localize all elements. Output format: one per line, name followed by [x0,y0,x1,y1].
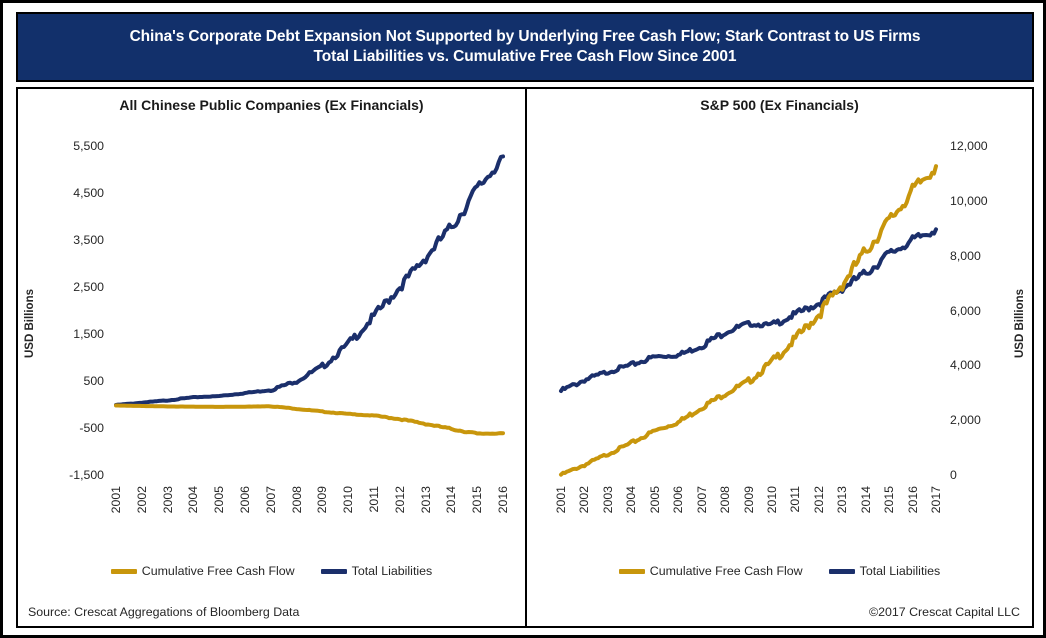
x-axis-tick: 2012 [393,486,407,513]
legend-swatch-gold [111,569,137,574]
x-axis-tick: 2012 [812,486,826,513]
legend-item-cumulative-free-cash-flow: Cumulative Free Cash Flow [111,564,295,578]
x-axis-tick: 2004 [624,486,638,513]
chart-page: China's Corporate Debt Expansion Not Sup… [0,0,1046,638]
legend-swatch-gold [619,569,645,574]
y-axis-tick: 1,500 [73,327,104,341]
legend-label-cumulative-free-cash-flow: Cumulative Free Cash Flow [650,564,803,578]
x-axis-tick: 2016 [496,486,510,513]
x-axis-tick: 2011 [367,486,381,512]
x-axis-tick: 2002 [135,486,149,513]
x-axis-tick: 2004 [186,486,200,513]
panel-sp500: S&P 500 (Ex Financials) USD Billions Cum… [527,89,1032,626]
x-axis-tick: 2011 [788,486,802,512]
series-line-cumulative-free-cash-flow [116,406,503,434]
legend-swatch-navy [321,569,347,574]
chart-title-line-2: Total Liabilities vs. Cumulative Free Ca… [314,47,737,67]
x-axis-tick: 2015 [470,486,484,513]
y-axis-tick: 2,500 [73,280,104,294]
line-chart-svg [18,89,525,626]
legend-swatch-navy [829,569,855,574]
x-axis-tick: 2002 [577,486,591,513]
x-axis-tick: 2014 [859,486,873,513]
legend-label-total-liabilities: Total Liabilities [352,564,433,578]
x-axis-tick: 2015 [882,486,896,513]
x-axis-tick: 2017 [929,486,943,513]
legend-item-cumulative-free-cash-flow: Cumulative Free Cash Flow [619,564,803,578]
chart-panels: All Chinese Public Companies (Ex Financi… [16,87,1034,628]
legend-label-total-liabilities: Total Liabilities [860,564,941,578]
x-axis-tick: 2008 [718,486,732,513]
x-axis-tick: 2003 [161,486,175,513]
x-axis-tick: 2005 [212,486,226,513]
legend-item-total-liabilities: Total Liabilities [321,564,433,578]
panel-china: All Chinese Public Companies (Ex Financi… [18,89,527,626]
y-axis-tick: 2,000 [950,413,981,427]
legend-label-cumulative-free-cash-flow: Cumulative Free Cash Flow [142,564,295,578]
series-line-total-liabilities [116,156,503,405]
y-axis-tick: 3,500 [73,233,104,247]
x-axis-tick: 2001 [554,486,568,513]
y-axis-tick: 12,000 [950,139,988,153]
x-axis-tick: 2008 [290,486,304,513]
copyright-note: ©2017 Crescat Capital LLC [869,605,1020,619]
chart-title-line-1: China's Corporate Debt Expansion Not Sup… [130,27,921,47]
legend-item-total-liabilities: Total Liabilities [829,564,941,578]
y-axis-tick: 0 [950,468,957,482]
y-axis-tick: -500 [79,421,104,435]
x-axis-tick: 2013 [419,486,433,513]
y-axis-tick: 8,000 [950,249,981,263]
y-axis-tick: 10,000 [950,194,988,208]
x-axis-tick: 2007 [264,486,278,513]
x-axis-tick: 2005 [648,486,662,513]
x-axis-tick: 2006 [238,486,252,513]
x-axis-tick: 2007 [695,486,709,513]
y-axis-tick: -1,500 [69,468,104,482]
series-line-total-liabilities [561,229,936,391]
panel-sp500-legend: Cumulative Free Cash Flow Total Liabilit… [527,564,1032,578]
x-axis-tick: 2009 [315,486,329,513]
x-axis-tick: 2010 [765,486,779,513]
y-axis-tick: 4,000 [950,358,981,372]
y-axis-tick: 5,500 [73,139,104,153]
x-axis-tick: 2009 [742,486,756,513]
chart-header-banner: China's Corporate Debt Expansion Not Sup… [16,12,1034,82]
y-axis-tick: 500 [83,374,104,388]
x-axis-tick: 2001 [109,486,123,513]
source-note: Source: Crescat Aggregations of Bloomber… [28,605,299,619]
y-axis-tick: 4,500 [73,186,104,200]
x-axis-tick: 2003 [601,486,615,513]
panel-china-plot [18,89,525,626]
x-axis-tick: 2013 [835,486,849,513]
x-axis-tick: 2010 [341,486,355,513]
y-axis-tick: 6,000 [950,304,981,318]
x-axis-tick: 2014 [444,486,458,513]
x-axis-tick: 2006 [671,486,685,513]
x-axis-tick: 2016 [906,486,920,513]
panel-china-legend: Cumulative Free Cash Flow Total Liabilit… [18,564,525,578]
